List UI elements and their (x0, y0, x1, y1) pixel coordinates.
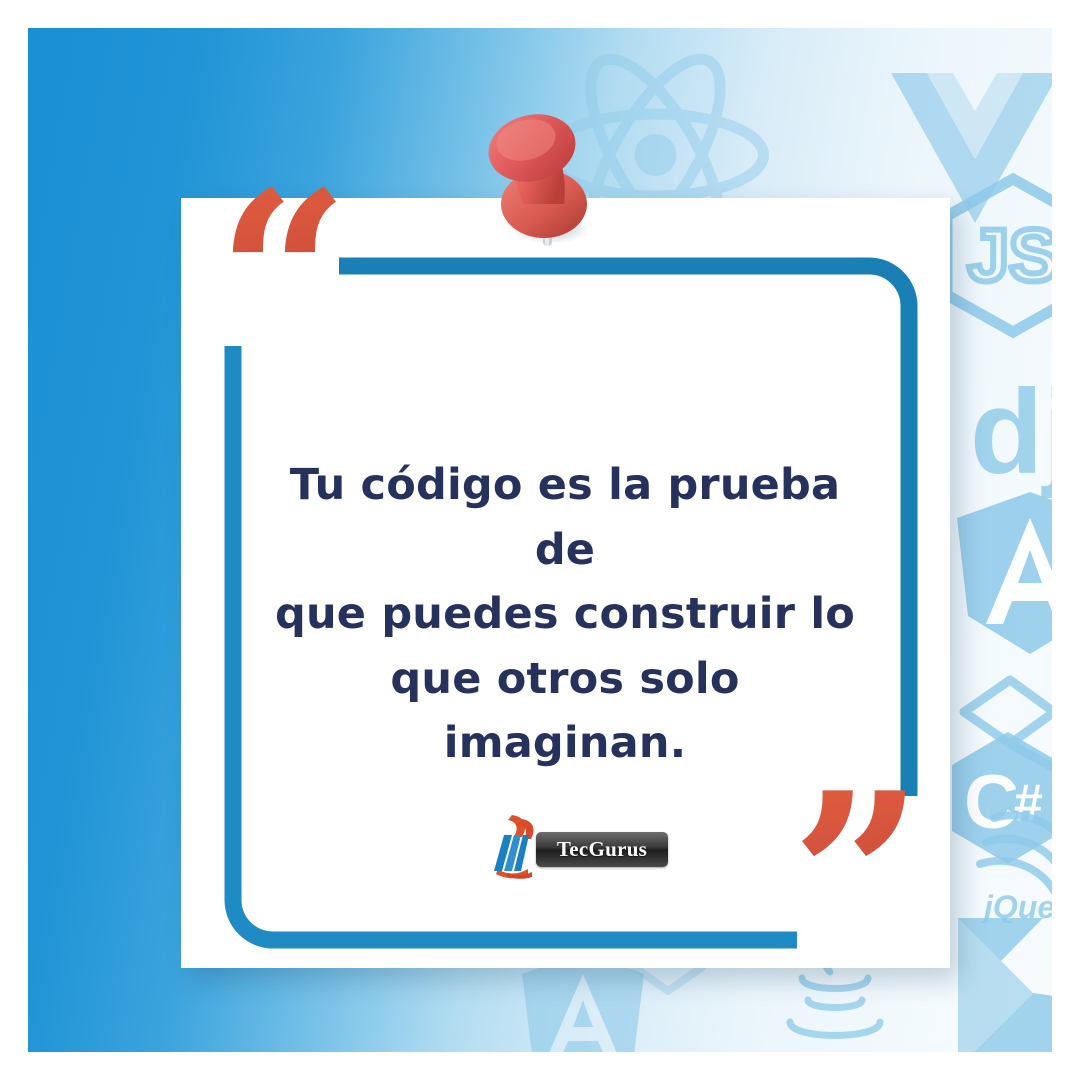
poster-root: JS dj (0, 0, 1080, 1080)
laravel-icon (958, 668, 1052, 798)
kotlin-icon (948, 908, 1052, 1052)
django-icon: dj (966, 373, 1052, 508)
tecgurus-logo: TecGurus (488, 813, 668, 879)
nodejs-icon: JS (938, 173, 1052, 338)
quote-line-2: que puedes construir lo (265, 582, 865, 647)
svg-text:C: C (964, 760, 1019, 845)
angular-icon (953, 488, 1052, 658)
jquery-icon: jQuery (976, 798, 1052, 923)
open-quote-icon: “ (217, 162, 349, 392)
tecgurus-logo-plate: TecGurus (536, 832, 668, 867)
poster-canvas: JS dj (28, 28, 1052, 1052)
quote-card: “ ” Tu código es la prueba de que puedes… (181, 198, 950, 968)
svg-text:#: # (1014, 774, 1043, 832)
tecgurus-wordmark: TecGurus (536, 832, 668, 867)
svg-text:dj: dj (970, 373, 1052, 499)
quote-line-1: Tu código es la prueba de (265, 453, 865, 582)
quote-text: Tu código es la prueba de que puedes con… (265, 453, 865, 776)
csharp-icon: C # (946, 728, 1052, 868)
push-pin-icon (466, 100, 616, 250)
close-quote-icon: ” (791, 763, 923, 993)
quote-line-3: que otros solo imaginan. (265, 647, 865, 776)
svg-text:jQuery: jQuery (980, 889, 1052, 923)
svg-text:JS: JS (968, 214, 1052, 297)
